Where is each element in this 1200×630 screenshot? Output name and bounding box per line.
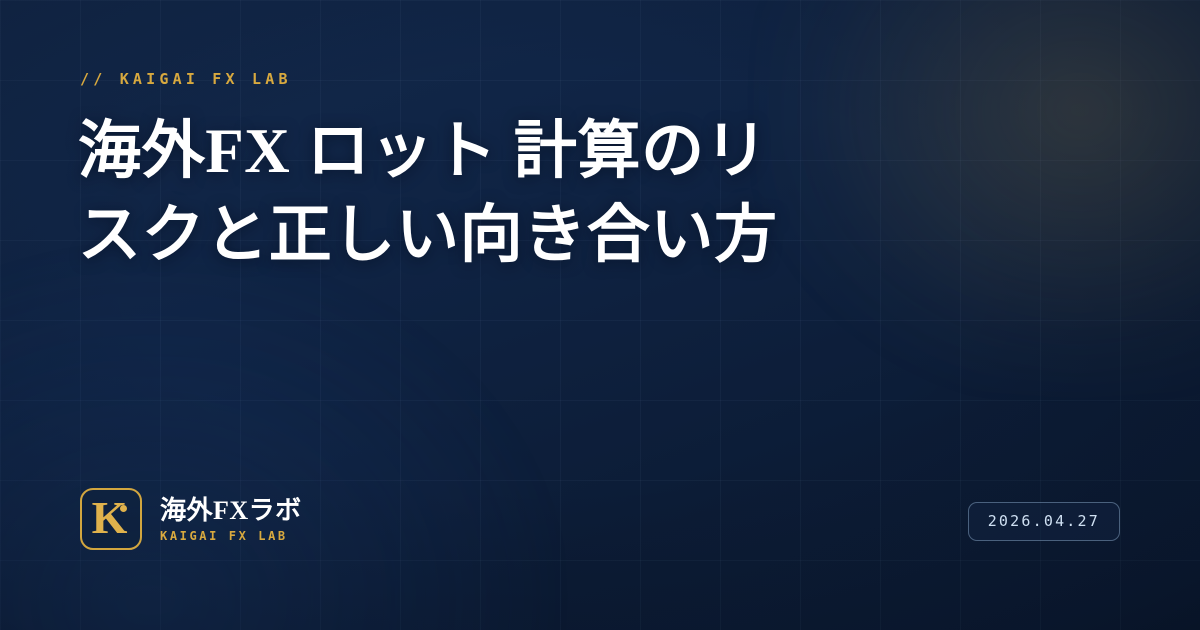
eyebrow-label: // KAIGAI FX LAB xyxy=(80,70,292,88)
page-title: 海外FX ロット 計算のリ スクと正しい向き合い方 xyxy=(78,109,978,277)
page-title-line-2: スクと正しい向き合い方 xyxy=(78,193,978,277)
brand-name: 海外FXラボ xyxy=(160,496,302,526)
date-badge: 2026.04.27 xyxy=(968,502,1120,541)
card-content: // KAIGAI FX LAB 海外FX ロット 計算のリ スクと正しい向き合… xyxy=(0,0,1200,630)
brand-lockup: K 海外FXラボ KAIGAI FX LAB xyxy=(80,488,302,550)
logo-icon: K xyxy=(80,488,142,550)
og-card: // KAIGAI FX LAB 海外FX ロット 計算のリ スクと正しい向き合… xyxy=(0,0,1200,630)
page-title-line-1: 海外FX ロット 計算のリ xyxy=(78,109,978,193)
logo-dot-icon xyxy=(120,505,127,512)
card-footer: K 海外FXラボ KAIGAI FX LAB 2026.04.27 xyxy=(80,488,1120,550)
logo-letter: K xyxy=(92,495,128,541)
brand-text-block: 海外FXラボ KAIGAI FX LAB xyxy=(160,496,302,543)
brand-subtitle: KAIGAI FX LAB xyxy=(160,529,302,543)
